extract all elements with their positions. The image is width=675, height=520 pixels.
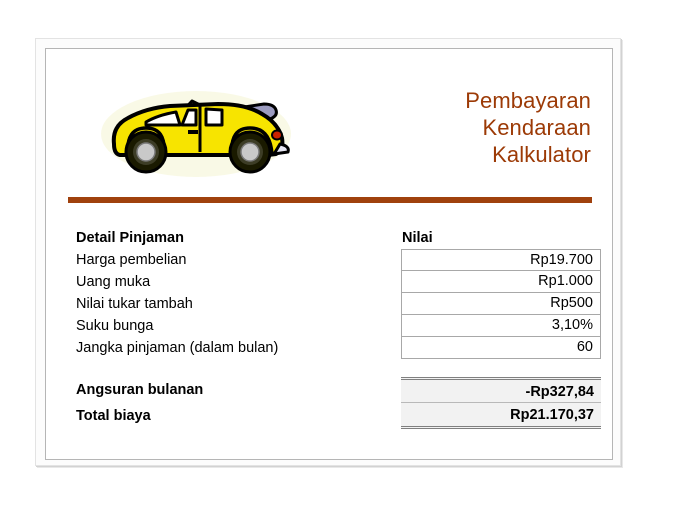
table-row: Suku bunga 3,10%: [46, 315, 612, 337]
page-title: Pembayaran Kendaraan Kalkulator: [465, 87, 591, 168]
header-divider: [68, 197, 592, 203]
row-value-jangka-pinjaman[interactable]: 60: [401, 337, 601, 359]
title-line-1: Pembayaran: [465, 87, 591, 114]
card-header: Pembayaran Kendaraan Kalkulator: [46, 49, 612, 189]
table-row: Nilai tukar tambah Rp500: [46, 293, 612, 315]
table-row: Harga pembelian Rp19.700: [46, 249, 612, 271]
loan-detail-table: Detail Pinjaman Nilai Harga pembelian Rp…: [46, 227, 612, 359]
row-label-nilai-tukar-tambah: Nilai tukar tambah: [76, 293, 193, 315]
summary-block: Angsuran bulanan -Rp327,84 Total biaya R…: [46, 377, 612, 429]
car-illustration: [96, 82, 296, 180]
table-row: Uang muka Rp1.000: [46, 271, 612, 293]
summary-value-total-biaya: Rp21.170,37: [401, 403, 601, 429]
row-value-harga-pembelian[interactable]: Rp19.700: [401, 249, 601, 271]
table-header-row: Detail Pinjaman Nilai: [46, 227, 612, 249]
row-label-jangka-pinjaman: Jangka pinjaman (dalam bulan): [76, 337, 278, 359]
row-value-nilai-tukar-tambah[interactable]: Rp500: [401, 293, 601, 315]
row-value-suku-bunga[interactable]: 3,10%: [401, 315, 601, 337]
summary-row: Total biaya Rp21.170,37: [46, 403, 612, 429]
row-label-suku-bunga: Suku bunga: [76, 315, 153, 337]
summary-value-angsuran-bulanan: -Rp327,84: [401, 377, 601, 403]
summary-label-angsuran-bulanan: Angsuran bulanan: [76, 377, 203, 403]
calculator-card: Pembayaran Kendaraan Kalkulator Detail P…: [45, 48, 613, 460]
summary-row: Angsuran bulanan -Rp327,84: [46, 377, 612, 403]
table-row: Jangka pinjaman (dalam bulan) 60: [46, 337, 612, 359]
row-label-harga-pembelian: Harga pembelian: [76, 249, 186, 271]
column-header-value: Nilai: [402, 227, 433, 249]
row-label-uang-muka: Uang muka: [76, 271, 150, 293]
summary-label-total-biaya: Total biaya: [76, 403, 151, 429]
title-line-2: Kendaraan: [465, 114, 591, 141]
column-header-detail: Detail Pinjaman: [76, 227, 184, 249]
title-line-3: Kalkulator: [465, 141, 591, 168]
row-value-uang-muka[interactable]: Rp1.000: [401, 271, 601, 293]
